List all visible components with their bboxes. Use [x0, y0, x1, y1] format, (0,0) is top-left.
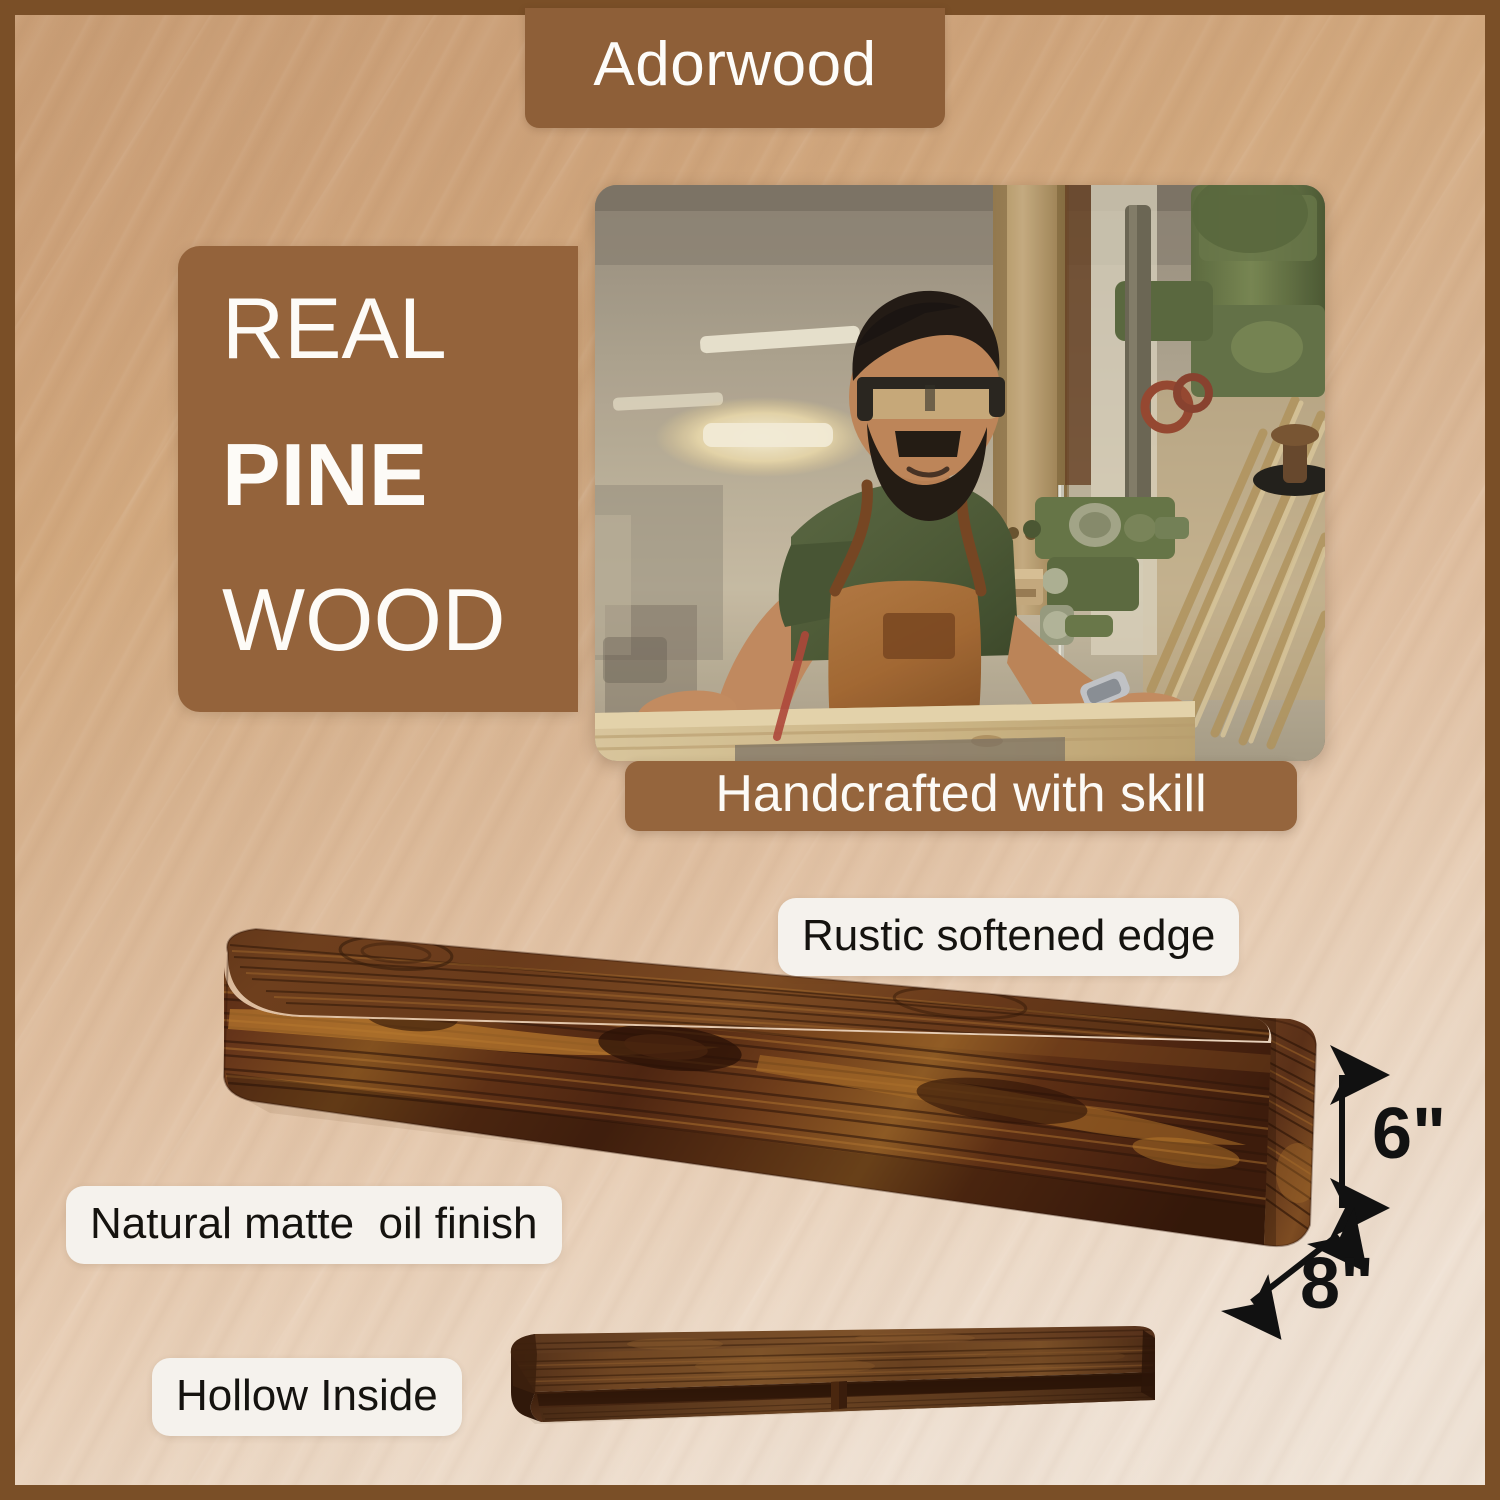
- headline-badge: REAL PINE WOOD: [178, 246, 578, 712]
- label-rustic-text: Rustic softened edge: [802, 914, 1215, 961]
- workshop-photo-illustration: [595, 185, 1325, 761]
- label-natural-matte-oil-finish: Natural matte oil finish: [66, 1186, 562, 1264]
- headline-line-wood: WOOD: [222, 576, 506, 664]
- label-rustic-softened-edge: Rustic softened edge: [778, 898, 1239, 976]
- headline-line-real: REAL: [222, 286, 447, 372]
- label-matte-text: Natural matte oil finish: [90, 1202, 538, 1249]
- label-hollow-text: Hollow Inside: [176, 1374, 438, 1421]
- photo-caption-badge: Handcrafted with skill: [625, 761, 1297, 831]
- product-infographic: Adorwood REAL PINE WOOD: [0, 0, 1500, 1500]
- label-hollow-inside: Hollow Inside: [152, 1358, 462, 1436]
- brand-badge: Adorwood: [525, 8, 945, 128]
- height-dimension-label: 6": [1372, 1098, 1446, 1170]
- depth-dimension-label: 8": [1300, 1248, 1374, 1320]
- hollow-beam-illustration: [495, 1320, 1160, 1450]
- headline-line-pine: PINE: [222, 431, 427, 519]
- workshop-photo: [595, 185, 1325, 761]
- hollow-beam-product: [495, 1320, 1160, 1450]
- photo-caption-text: Handcrafted with skill: [715, 768, 1206, 824]
- brand-name: Adorwood: [593, 34, 876, 102]
